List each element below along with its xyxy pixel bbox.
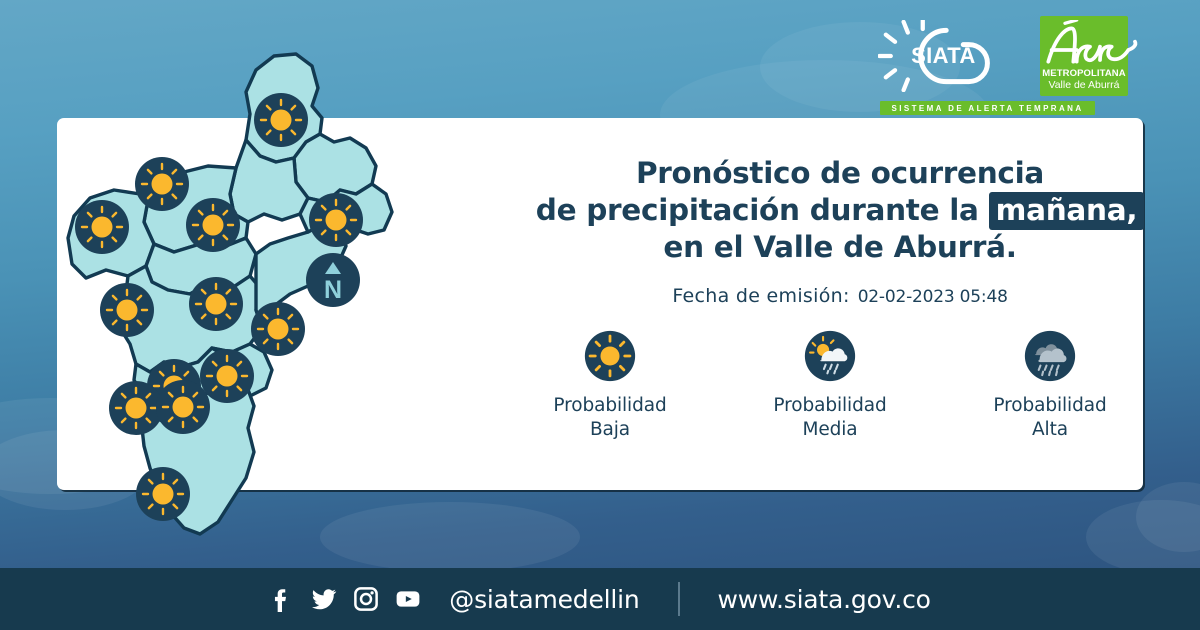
station-marker xyxy=(200,349,254,403)
legend-item-alta: Probabilidad Alta xyxy=(940,330,1160,442)
station-marker xyxy=(186,198,240,252)
legend-label-baja: Probabilidad Baja xyxy=(553,394,666,442)
siata-logo: SIATA xyxy=(878,20,1013,92)
legend-label-alta-line2: Alta xyxy=(993,418,1106,442)
station-marker xyxy=(100,283,154,337)
station-marker xyxy=(156,380,210,434)
siata-tagline: SISTEMA DE ALERTA TEMPRANA xyxy=(880,101,1095,115)
facebook-icon[interactable] xyxy=(269,586,295,612)
headline-line-1: Pronóstico de ocurrencia xyxy=(520,155,1160,192)
station-marker xyxy=(254,93,308,147)
probability-legend: Probabilidad Baja Probabilidad Media xyxy=(500,330,1160,442)
footer-divider xyxy=(678,582,680,616)
website-url[interactable]: www.siata.gov.co xyxy=(718,585,931,614)
map-svg: N xyxy=(50,22,520,582)
legend-label-media-line1: Probabilidad xyxy=(773,394,886,418)
legend-item-baja: Probabilidad Baja xyxy=(500,330,720,442)
legend-label-media: Probabilidad Media xyxy=(773,394,886,442)
station-marker xyxy=(309,193,363,247)
footer-bar: @siatamedellin www.siata.gov.co xyxy=(0,568,1200,630)
legend-label-alta-line1: Probabilidad xyxy=(993,394,1106,418)
sun-rain-icon xyxy=(804,330,856,382)
logo-zone: SIATA METROPOLITANA Valle de Aburrá SIST… xyxy=(878,14,1128,116)
siata-logo-text: SIATA xyxy=(911,43,976,68)
sun-icon xyxy=(584,330,636,382)
station-marker xyxy=(75,200,129,254)
youtube-icon[interactable] xyxy=(395,586,421,612)
twitter-icon[interactable] xyxy=(311,586,337,612)
emission-date-row: Fecha de emisión: 02-02-2023 05:48 xyxy=(520,285,1160,307)
footer-inner: @siatamedellin www.siata.gov.co xyxy=(269,582,930,616)
social-handle[interactable]: @siatamedellin xyxy=(449,585,639,614)
compass-label: N xyxy=(324,276,342,304)
station-marker xyxy=(109,381,163,435)
legend-label-baja-line2: Baja xyxy=(553,418,666,442)
legend-item-media: Probabilidad Media xyxy=(720,330,940,442)
emission-date-label: Fecha de emisión: xyxy=(672,285,849,307)
station-marker xyxy=(136,467,190,521)
station-marker xyxy=(135,157,189,211)
legend-label-baja-line1: Probabilidad xyxy=(553,394,666,418)
area-metropolitana-logo: METROPOLITANA Valle de Aburrá xyxy=(1040,16,1128,96)
legend-label-media-line2: Media xyxy=(773,418,886,442)
area-metropolitana-line2: Valle de Aburrá xyxy=(1048,79,1119,91)
station-marker xyxy=(251,302,305,356)
valle-de-aburra-map: N xyxy=(50,22,520,582)
rain-cloud-icon xyxy=(1024,330,1076,382)
headline-highlight: mañana, xyxy=(989,192,1145,230)
legend-label-alta: Probabilidad Alta xyxy=(993,394,1106,442)
headline-block: Pronóstico de ocurrencia de precipitació… xyxy=(520,155,1160,307)
headline-line-2: de precipitación durante la mañana, xyxy=(520,192,1160,229)
compass-north-icon: N xyxy=(306,253,360,307)
headline-line-2-text: de precipitación durante la xyxy=(536,193,979,227)
emission-date-value: 02-02-2023 05:48 xyxy=(858,287,1008,307)
area-script-icon xyxy=(1040,20,1140,70)
station-marker xyxy=(189,277,243,331)
instagram-icon[interactable] xyxy=(353,586,379,612)
headline-line-3: en el Valle de Aburrá. xyxy=(520,229,1160,266)
